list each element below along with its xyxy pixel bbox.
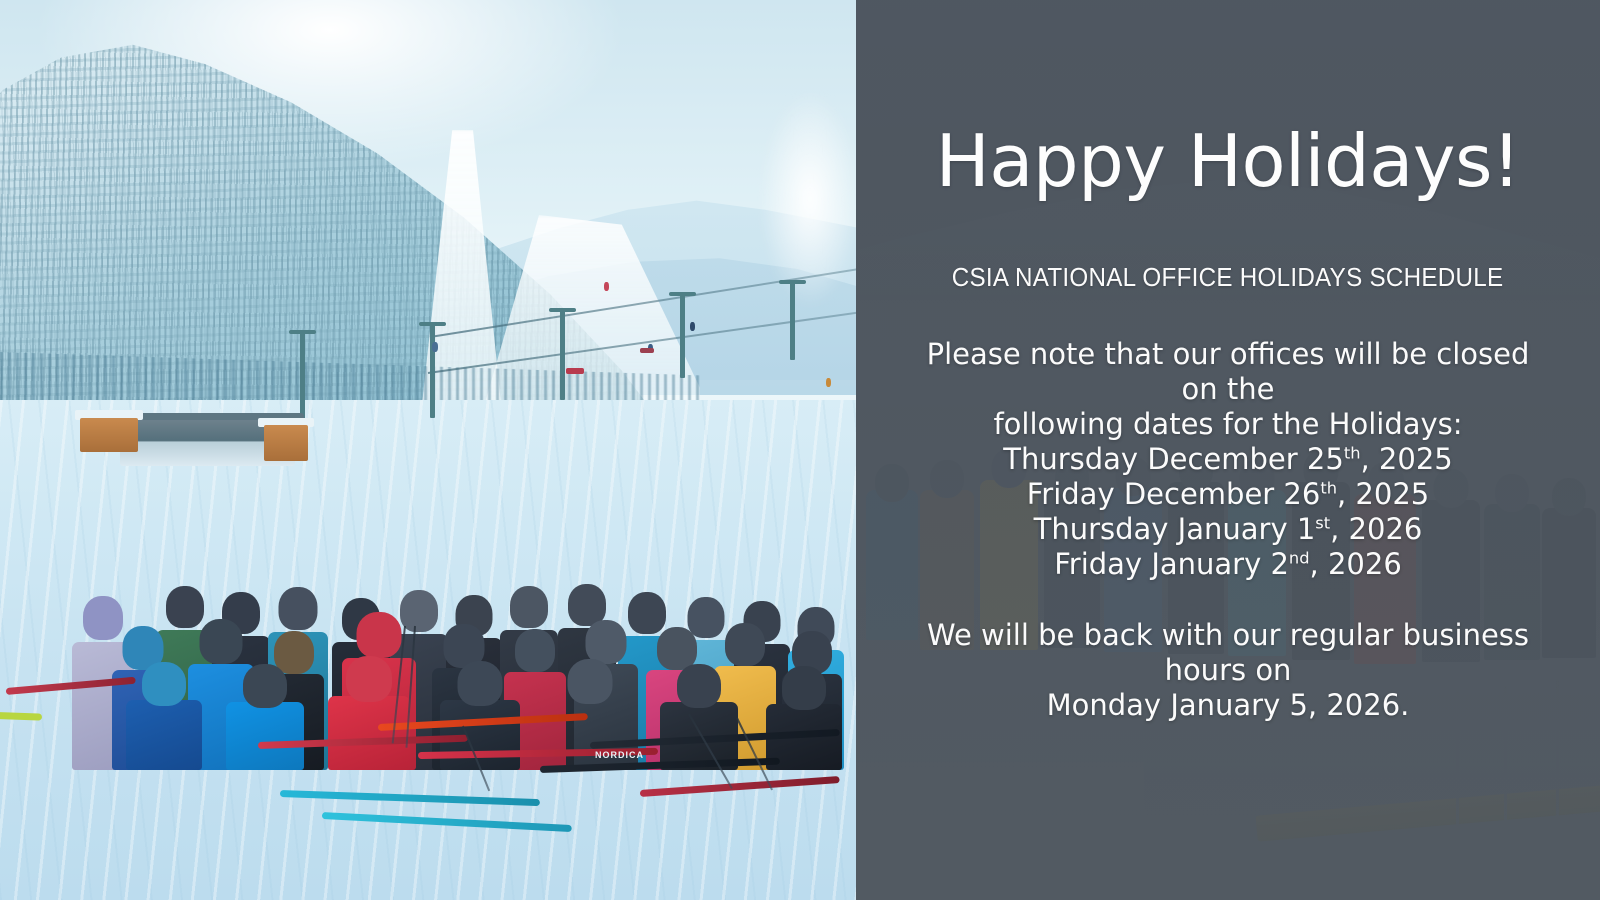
date-ordinal-suffix: st: [1315, 513, 1330, 532]
distant-skier: [690, 322, 695, 331]
distant-skier: [604, 282, 609, 291]
holiday-announcement-slide: NORDICA: [0, 0, 1600, 900]
intro-line-1: Please note that our offices will be clo…: [908, 337, 1548, 407]
distant-skier: [566, 368, 584, 374]
person: [226, 678, 304, 770]
lift-tower-2: [430, 322, 435, 418]
distant-skier: [640, 348, 654, 353]
ski-tip: [0, 712, 42, 721]
closure-date-row: Thursday December 25th, 2025: [1003, 442, 1452, 477]
intro-paragraph: Please note that our offices will be clo…: [908, 337, 1548, 442]
closure-dates-list: Thursday December 25th, 2025Friday Decem…: [1003, 442, 1452, 582]
schedule-subtitle: CSIA NATIONAL OFFICE HOLIDAYS SCHEDULE: [952, 262, 1504, 293]
hut-right: [264, 425, 308, 461]
message-content: Happy Holidays! CSIA NATIONAL OFFICE HOL…: [856, 0, 1600, 900]
person: [126, 674, 202, 770]
distant-skier: [432, 342, 438, 352]
person: [766, 682, 842, 770]
lift-tower-5: [790, 280, 795, 360]
closing-line-2: Monday January 5, 2026.: [898, 688, 1558, 723]
closure-date-row: Friday December 26th, 2025: [1003, 477, 1452, 512]
distant-skier: [826, 378, 831, 387]
person: [660, 680, 738, 770]
closure-date-row: Friday January 2nd, 2026: [1003, 547, 1452, 582]
closure-date-row: Thursday January 1st, 2026: [1003, 512, 1452, 547]
date-ordinal-suffix: th: [1320, 478, 1337, 497]
date-ordinal-suffix: th: [1344, 443, 1361, 462]
ski-group-photo: NORDICA: [0, 0, 856, 900]
intro-line-2: following dates for the Holidays:: [908, 407, 1548, 442]
message-panel: Happy Holidays! CSIA NATIONAL OFFICE HOL…: [856, 0, 1600, 900]
page-title: Happy Holidays!: [936, 125, 1521, 197]
lift-tower-3: [560, 308, 565, 400]
closing-line-1: We will be back with our regular busines…: [898, 618, 1558, 688]
hut-left: [80, 418, 138, 452]
date-ordinal-suffix: nd: [1289, 548, 1310, 567]
ski-brand-label: NORDICA: [595, 750, 644, 760]
lift-tower-4: [680, 292, 685, 378]
closing-paragraph: We will be back with our regular busines…: [898, 618, 1558, 723]
